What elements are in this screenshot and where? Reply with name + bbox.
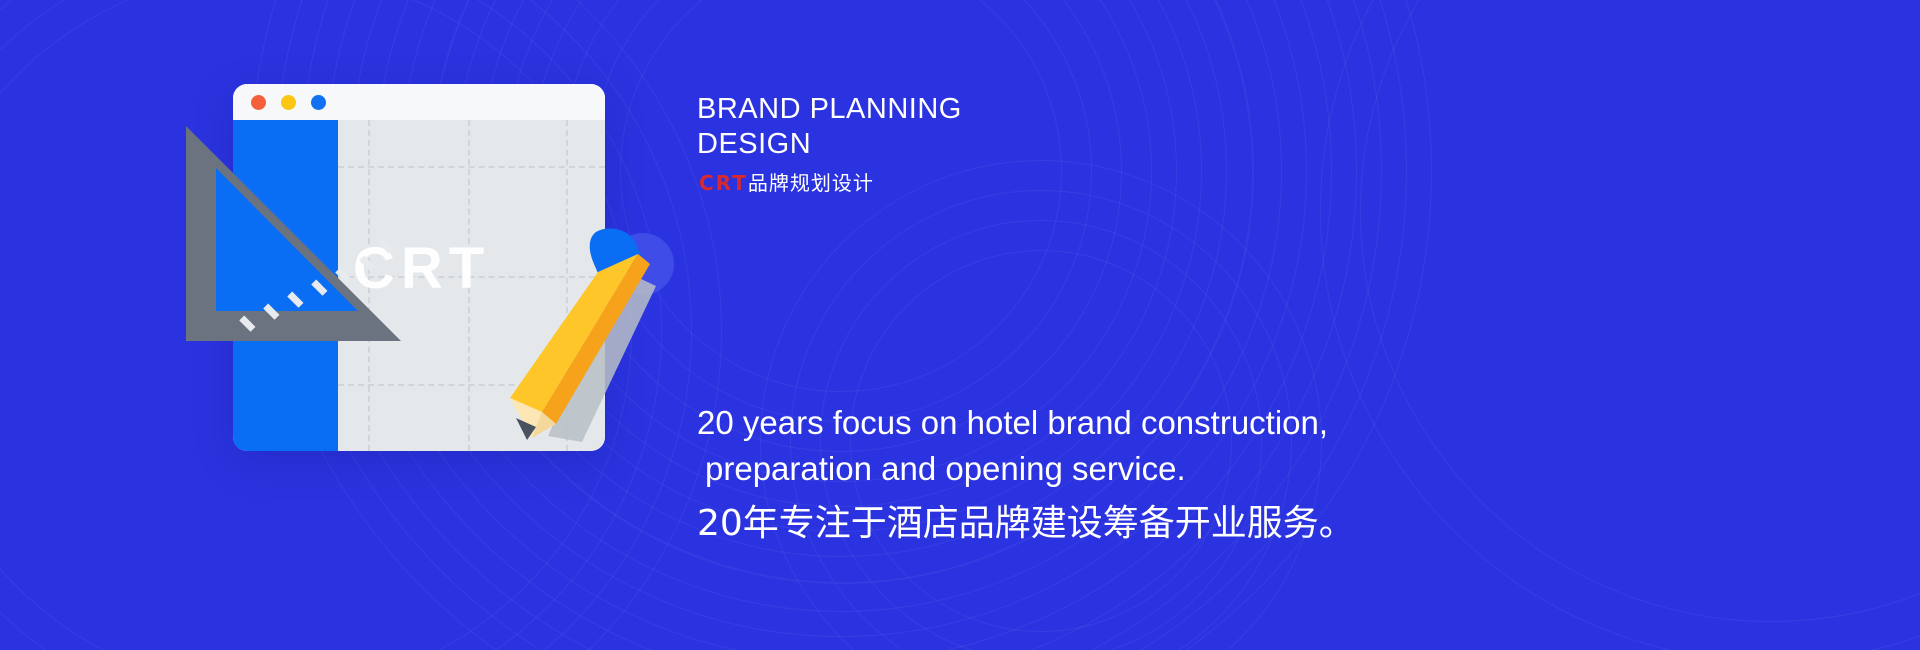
tagline-line-1: 20 years focus on hotel brand constructi…	[697, 400, 1457, 446]
tagline-line-2: preparation and opening service.	[697, 446, 1457, 492]
banner-text-column: BRAND PLANNING DESIGN CRT品牌规划设计 20 years…	[697, 0, 1797, 650]
pencil-icon	[470, 228, 685, 443]
banner-heading: BRAND PLANNING DESIGN	[697, 92, 1257, 162]
design-illustration: CRT	[0, 0, 760, 650]
subheading-chinese-text: 品牌规划设计	[748, 171, 874, 195]
banner-tagline-english: 20 years focus on hotel brand constructi…	[697, 400, 1457, 492]
brand-banner: CRT	[0, 0, 1920, 650]
heading-line-1: BRAND PLANNING	[697, 92, 1257, 127]
heading-line-2: DESIGN	[697, 127, 1257, 162]
blue-dot-icon	[311, 95, 326, 110]
red-dot-icon	[251, 95, 266, 110]
set-square-ruler-icon	[186, 126, 406, 341]
yellow-dot-icon	[281, 95, 296, 110]
browser-title-bar	[233, 84, 605, 120]
banner-subheading: CRT品牌规划设计	[699, 170, 874, 196]
subheading-brand-text: CRT	[699, 171, 748, 195]
banner-tagline-chinese: 20年专注于酒店品牌建设筹备开业服务。	[697, 500, 1457, 548]
